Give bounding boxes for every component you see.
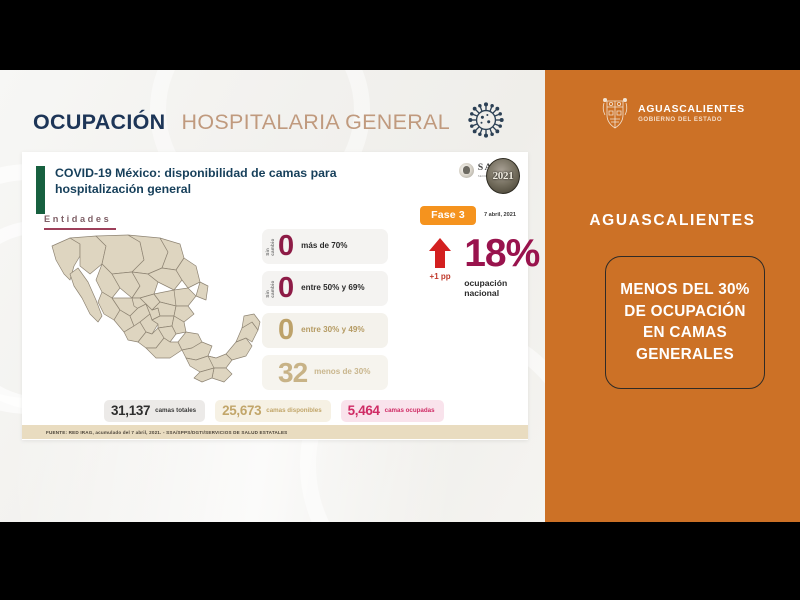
source-strip: FUENTE: RED IRAG, acumulado del 7 abril,…: [22, 425, 528, 439]
coronavirus-icon: [468, 102, 504, 143]
card-accent-bar: [36, 166, 45, 214]
mexico-map: [40, 230, 272, 400]
anniversary-seal-icon: 2021: [486, 158, 520, 194]
slide-panel: OCUPACIÓN HOSPITALARIA GENERAL: [0, 70, 545, 522]
stat-value: 0: [278, 233, 294, 259]
percent-block: 18% ocupación nacional: [460, 236, 541, 298]
report-date: 7 abril, 2021: [484, 212, 516, 219]
bed-counts: 31,137 camas totales 25,673 camas dispon…: [104, 400, 444, 422]
national-occupancy: +1 pp 18% ocupación nacional: [420, 236, 541, 298]
arrow-up-icon: [429, 238, 451, 268]
source-text: FUENTE: RED IRAG, acumulado del 7 abril,…: [22, 430, 287, 435]
state-logo-title: AGUASCALIENTES: [638, 104, 745, 115]
bed-stat: 31,137 camas totales: [104, 400, 205, 422]
state-panel: AGUASCALIENTES GOBIERNO DEL ESTADO AGUAS…: [545, 70, 800, 522]
state-headline-box: MENOS DEL 30% DE OCUPACIÓN EN CAMAS GENE…: [605, 256, 765, 389]
state-logo-subtitle: GOBIERNO DEL ESTADO: [638, 116, 745, 123]
stat-label: entre 30% y 49%: [301, 325, 364, 335]
bed-stat: 5,464 camas ocupadas: [341, 400, 444, 422]
stat-label: menos de 30%: [314, 367, 370, 377]
stat-value: 0: [278, 317, 294, 343]
state-headline: MENOS DEL 30% DE OCUPACIÓN EN CAMAS GENE…: [616, 279, 754, 366]
state-logo: AGUASCALIENTES GOBIERNO DEL ESTADO: [545, 95, 800, 131]
stat-label: más de 70%: [301, 241, 347, 251]
slide-title-bold: OCUPACIÓN: [33, 110, 166, 135]
stat-row: Sin cambio 0 más de 70%: [262, 229, 388, 264]
bed-stat: 25,673 camas disponibles: [215, 400, 331, 422]
bed-number: 25,673: [222, 403, 261, 418]
screen: OCUPACIÓN HOSPITALARIA GENERAL: [0, 0, 800, 600]
mexico-eagle-icon: [459, 163, 474, 178]
slide-title-light: HOSPITALARIA GENERAL: [182, 110, 450, 135]
stat-change-label: Sin cambio: [265, 280, 275, 298]
state-name: AGUASCALIENTES: [545, 212, 800, 230]
logo-cluster: SALUD SECRETARÍA DE SALUD 2021 Fase 3 7 …: [400, 162, 518, 178]
national-percent-label: ocupación nacional: [464, 278, 541, 298]
mexico-map-svg: [40, 230, 272, 400]
bed-number: 31,137: [111, 403, 150, 418]
card-title: COVID-19 México: disponibilidad de camas…: [55, 165, 365, 197]
entidades-label: Entidades: [44, 214, 116, 228]
delta-label: +1 pp: [420, 272, 460, 281]
national-percent: 18%: [464, 236, 541, 272]
state-logo-text: AGUASCALIENTES GOBIERNO DEL ESTADO: [638, 104, 745, 123]
stat-rows: Sin cambio 0 más de 70% Sin cambio 0 ent…: [262, 229, 388, 397]
bed-label: camas totales: [155, 407, 196, 415]
trend-block: +1 pp: [420, 236, 460, 281]
stat-row: 32 menos de 30%: [262, 355, 388, 390]
seal-year: 2021: [493, 170, 514, 182]
video-frame: OCUPACIÓN HOSPITALARIA GENERAL: [0, 70, 800, 522]
stat-change-label: Sin cambio: [265, 238, 275, 256]
bed-number: 5,464: [348, 403, 380, 418]
aguascalientes-coat-of-arms-icon: [600, 95, 630, 131]
phase-badge: Fase 3: [420, 206, 476, 225]
stat-value: 32: [278, 360, 307, 385]
bed-label: camas ocupadas: [385, 407, 435, 415]
stat-row: 0 entre 30% y 49%: [262, 313, 388, 348]
stat-label: entre 50% y 69%: [301, 283, 364, 293]
stat-row: Sin cambio 0 entre 50% y 69%: [262, 271, 388, 306]
entidades-heading: Entidades: [44, 214, 116, 230]
report-card: COVID-19 México: disponibilidad de camas…: [22, 152, 528, 440]
stat-value: 0: [278, 275, 294, 301]
phase-row: Fase 3 7 abril, 2021: [420, 206, 516, 225]
slide-header: OCUPACIÓN HOSPITALARIA GENERAL: [33, 102, 504, 143]
bed-label: camas disponibles: [266, 407, 321, 415]
